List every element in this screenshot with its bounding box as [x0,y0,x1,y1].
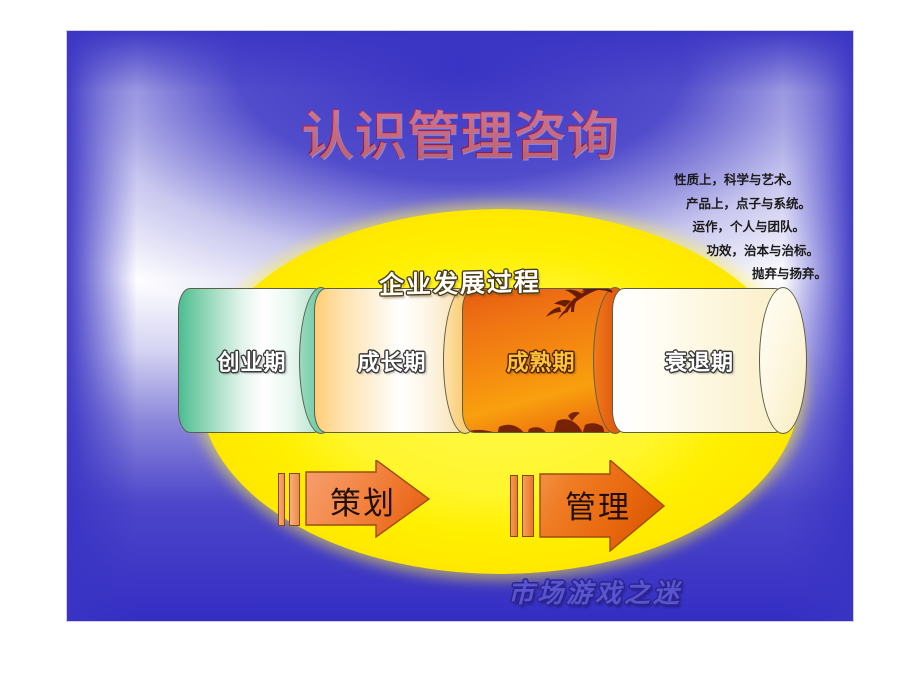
stage-label: 成熟期 [462,345,620,377]
stage-cylinder-growth: 成长期 [314,288,470,433]
arrow-tail-bar-outer [278,473,285,526]
note-line: 产品上，点子与系统。 [497,198,827,211]
arrow-label: 策划 [330,478,396,523]
arrow-tail-bar-inner [289,473,300,526]
note-line: 性质上，科学与艺术。 [497,174,827,187]
stage-label: 衰退期 [612,345,787,377]
arrow-tail-bar-inner [522,475,534,537]
page-title: 认识管理咨询 [67,94,853,169]
arrow-planning: 策划 [278,460,430,538]
note-line: 抛弃与扬弃。 [497,268,827,281]
note-line: 运作，个人与团队。 [497,221,827,234]
presentation-slide: 认识管理咨询 企业发展过程 性质上，科学与艺术。 产品上，点子与系统。 运作，个… [67,31,853,621]
note-line: 功效，治本与治标。 [497,245,827,258]
stage-cylinder-decline: 衰退期 [612,288,787,433]
stage-cylinder-startup: 创业期 [178,288,326,433]
arrow-management: 管理 [510,460,665,552]
shore-silhouette-icon [469,407,605,433]
stage-label: 成长期 [314,345,470,377]
arrow-label: 管理 [565,482,631,527]
footer-heading: 市场游戏之迷 [67,573,853,610]
arrow-tail-bar-outer [510,475,518,537]
notes-list: 性质上，科学与艺术。 产品上，点子与系统。 运作，个人与团队。 功效，治本与治标… [497,174,827,292]
stage-cylinder-maturity: 成熟期 [462,288,620,433]
stage-label: 创业期 [178,345,326,377]
